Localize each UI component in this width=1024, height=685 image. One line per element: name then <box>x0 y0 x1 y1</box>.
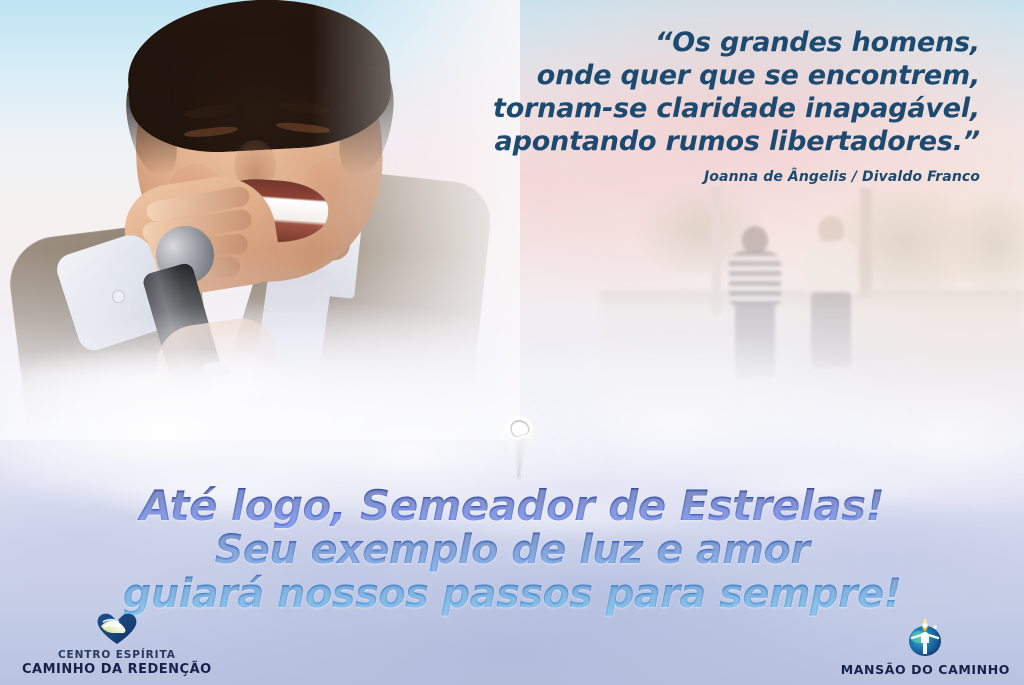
memorial-poster: “Os grandes homens, onde quer que se enc… <box>0 0 1024 685</box>
logo-mansao-do-caminho: MANSÃO DO CAMINHO <box>841 616 1010 677</box>
quote-line-1: “Os grandes homens, <box>420 26 980 59</box>
quote-line-2: onde quer que se encontrem, <box>420 59 980 92</box>
headline-block: Até logo, Semeador de Estrelas! Seu exem… <box>0 484 1024 616</box>
heart-hands-icon <box>95 610 139 646</box>
quote-line-3: tornam-se claridade inapagável, <box>420 92 980 125</box>
headline-line-1: Até logo, Semeador de Estrelas! <box>0 484 1024 528</box>
quote-block: “Os grandes homens, onde quer que se enc… <box>420 26 980 185</box>
logo-left-line-2: CAMINHO DA REDENÇÃO <box>22 662 212 677</box>
quote-attribution: Joanna de Ângelis / Divaldo Franco <box>420 169 980 185</box>
headline-line-2: Seu exemplo de luz e amor <box>0 528 1024 572</box>
logo-centro-espirita: CENTRO ESPÍRITA CAMINHO DA REDENÇÃO <box>22 610 212 677</box>
logo-right-line-2: MANSÃO DO CAMINHO <box>841 662 1010 677</box>
quote-line-4: apontando rumos libertadores.” <box>420 125 980 158</box>
mourning-ribbon-icon <box>487 408 551 488</box>
globe-figure-flame-icon <box>902 616 948 658</box>
logo-left-line-1: CENTRO ESPÍRITA <box>22 649 212 661</box>
